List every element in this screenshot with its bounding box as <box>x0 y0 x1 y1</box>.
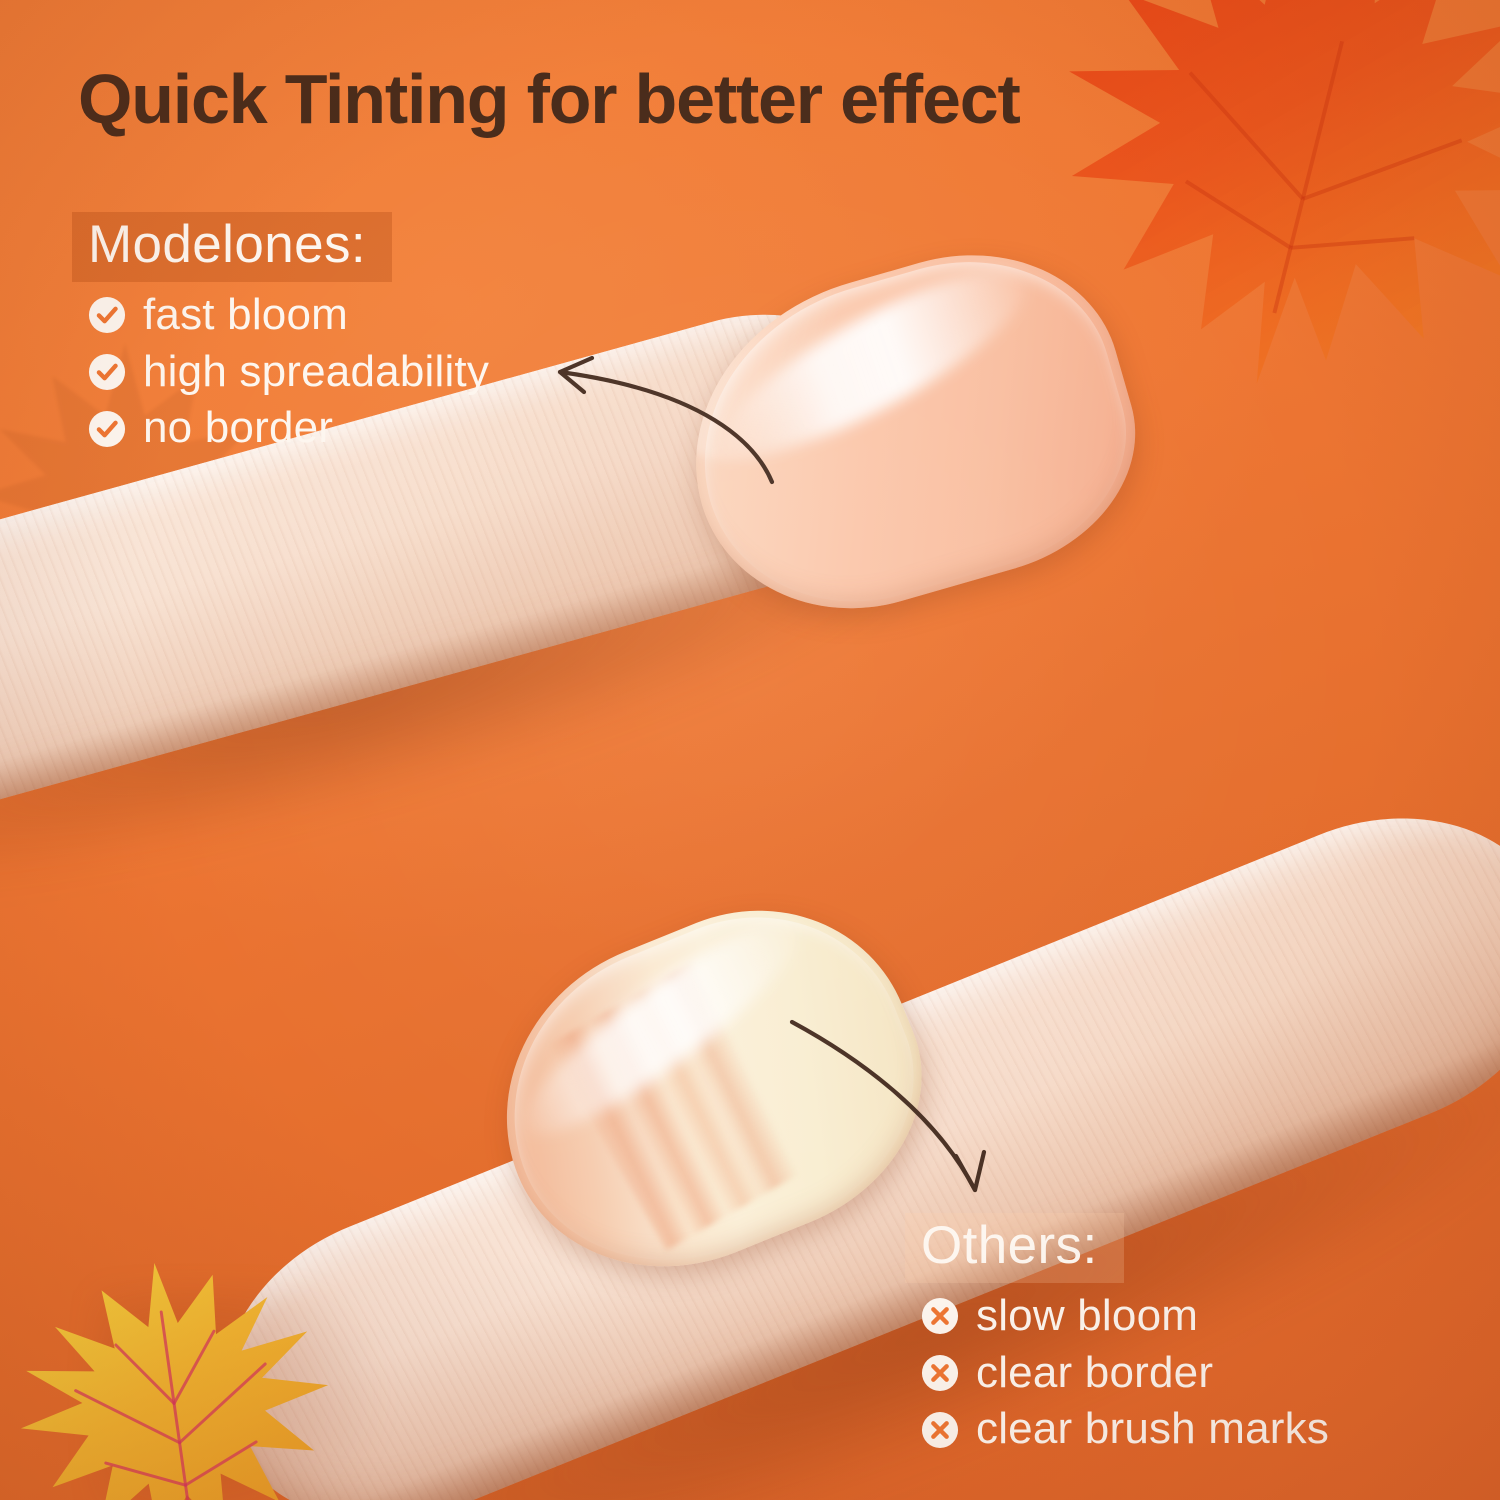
check-circle-icon <box>88 353 126 391</box>
x-circle-icon <box>921 1354 959 1392</box>
list-item-label: slow bloom <box>976 1293 1198 1340</box>
list-item-label: clear border <box>976 1350 1213 1397</box>
check-circle-icon <box>88 410 126 448</box>
list-item-label: fast bloom <box>143 292 348 339</box>
list-item-label: clear brush marks <box>976 1406 1329 1453</box>
curved-arrow-down-right-icon <box>770 1000 1030 1220</box>
x-circle-icon <box>921 1411 959 1449</box>
modelones-heading: Modelones: <box>72 212 392 282</box>
list-item: high spreadability <box>72 349 489 396</box>
modelones-feature-block: Modelones: fast bloom high spreadability <box>72 212 489 452</box>
others-feature-block: Others: slow bloom clear border <box>905 1213 1329 1453</box>
list-item: slow bloom <box>905 1293 1329 1340</box>
list-item: no border <box>72 405 489 452</box>
modelones-feature-list: fast bloom high spreadability no border <box>72 292 489 452</box>
list-item: clear brush marks <box>905 1406 1329 1453</box>
product-comparison-poster: Quick Tinting for better effect Modelone… <box>0 0 1500 1500</box>
list-item: fast bloom <box>72 292 489 339</box>
check-circle-icon <box>88 296 126 334</box>
page-title: Quick Tinting for better effect <box>78 62 1438 138</box>
maple-leaf-bottom-left-icon <box>0 1224 361 1500</box>
others-heading: Others: <box>905 1213 1124 1283</box>
x-circle-icon <box>921 1297 959 1335</box>
others-feature-list: slow bloom clear border clear brush mark… <box>905 1293 1329 1453</box>
list-item: clear border <box>905 1350 1329 1397</box>
list-item-label: high spreadability <box>143 349 489 396</box>
list-item-label: no border <box>143 405 333 452</box>
curved-arrow-left-icon <box>520 340 820 510</box>
